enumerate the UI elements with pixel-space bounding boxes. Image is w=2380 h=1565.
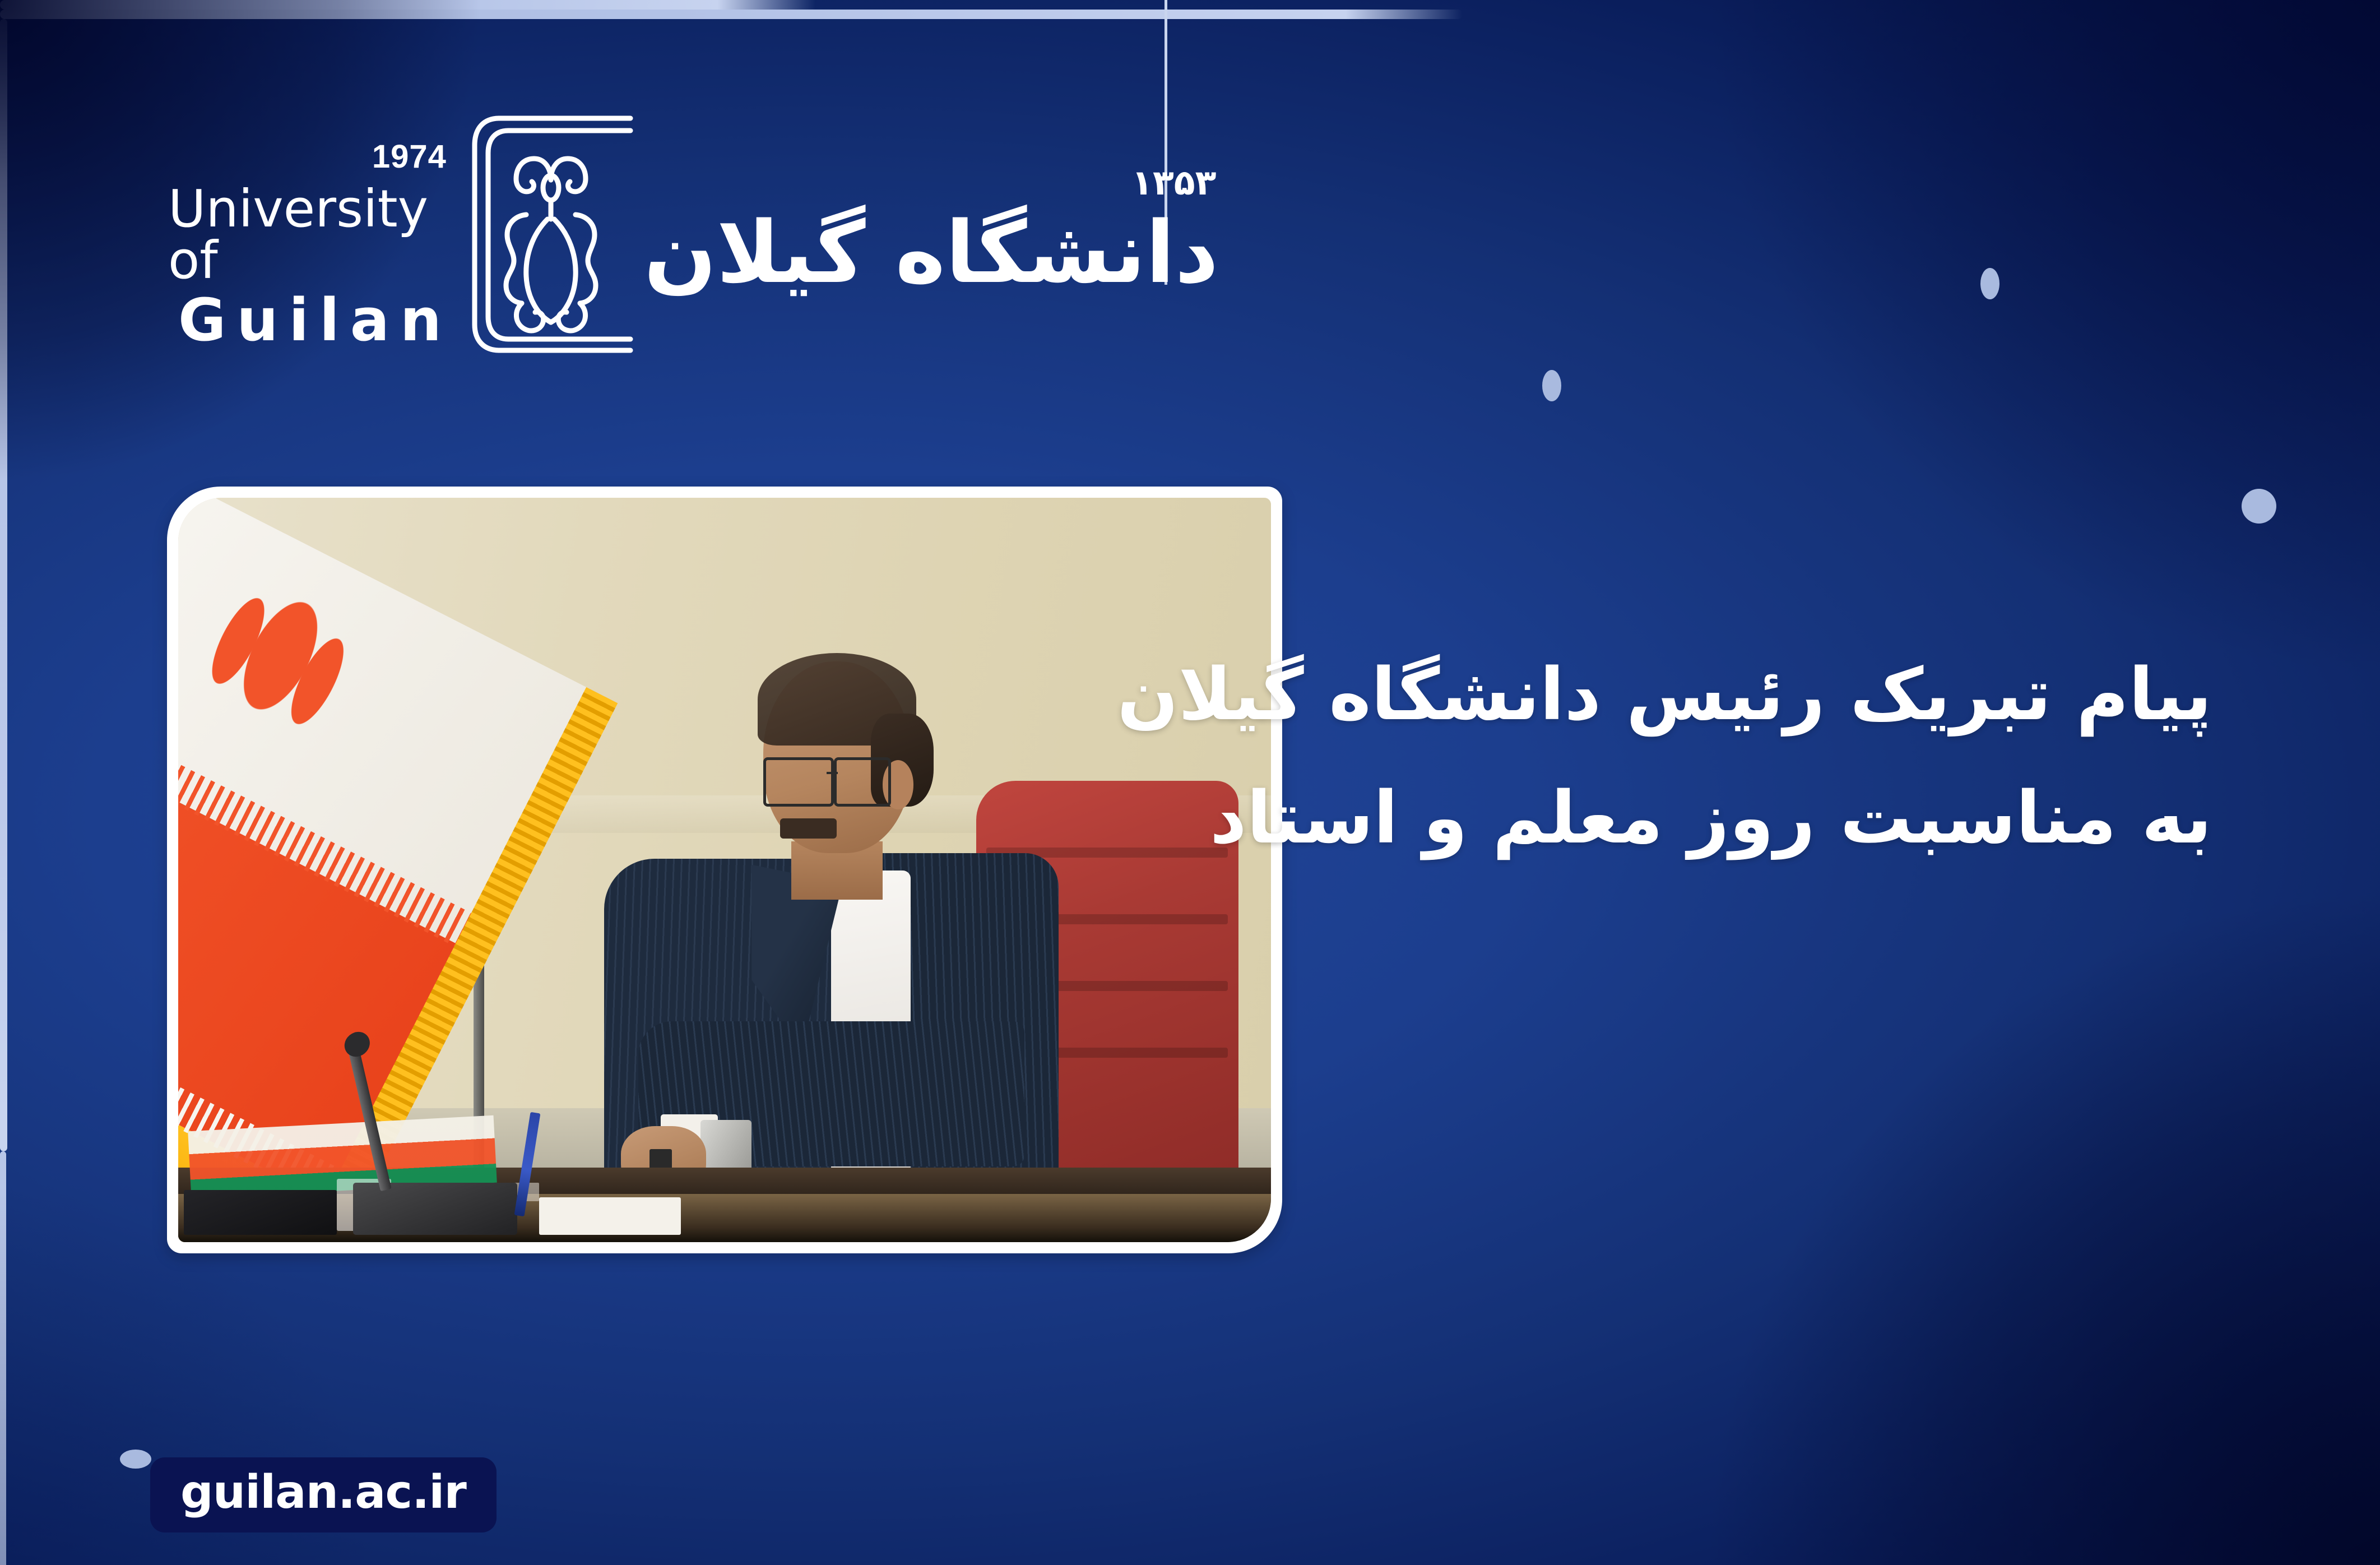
far-right-accent-dot-icon (2242, 489, 2276, 524)
left-vertical-accent-line (0, 19, 7, 1151)
website-url-badge[interactable]: guilan.ac.ir (150, 1457, 497, 1532)
logo-name-fa: دانشگاه گیلان (644, 200, 1219, 306)
logo-name-line2-en: Guilan (178, 291, 452, 349)
page-title: پیام تبریک رئیس دانشگاه گیلان به مناسبت … (1186, 633, 2212, 880)
eyeglasses-lens-right (834, 757, 890, 807)
title-line-2: به مناسبت روز معلم و استاد (1186, 757, 2212, 880)
notebook-icon (184, 1190, 337, 1235)
guilan-university-emblem-icon (467, 114, 635, 357)
poster-canvas: 1974 University of Guilan (0, 0, 2380, 1565)
upper-left-horizontal-accent-line (0, 10, 1463, 19)
left-bottom-accent-dot-icon (120, 1450, 151, 1469)
desk-microphone-icon (353, 1183, 517, 1235)
logo-year-en: 1974 (372, 141, 447, 173)
title-line-1: پیام تبریک رئیس دانشگاه گیلان (1186, 633, 2212, 757)
logo-name-line1-en: University of (168, 183, 452, 286)
ring-icon (649, 1149, 672, 1169)
moustache (780, 818, 837, 839)
logo-persian-text: ۱۳۵۳ دانشگاه گیلان (644, 162, 1219, 309)
president-writing-photo (178, 498, 1271, 1242)
top-right-horizontal-accent-line (0, 0, 815, 10)
eyeglasses-icon (763, 757, 834, 807)
top-right-accent-dot-icon (1980, 268, 1999, 299)
eyeglasses-bridge (827, 772, 838, 774)
person-figure (615, 661, 1184, 1242)
photo-frame (167, 487, 1282, 1253)
far-right-vertical-accent-line (0, 1151, 6, 1565)
university-logo: 1974 University of Guilan (168, 112, 1121, 359)
logo-english-text: 1974 University of Guilan (168, 122, 452, 349)
paper-sheet (539, 1197, 681, 1234)
logo-year-fa: ۱۳۵۳ (1131, 162, 1216, 203)
wristwatch-icon (700, 1120, 751, 1172)
upper-left-accent-dot-icon (1542, 370, 1561, 401)
